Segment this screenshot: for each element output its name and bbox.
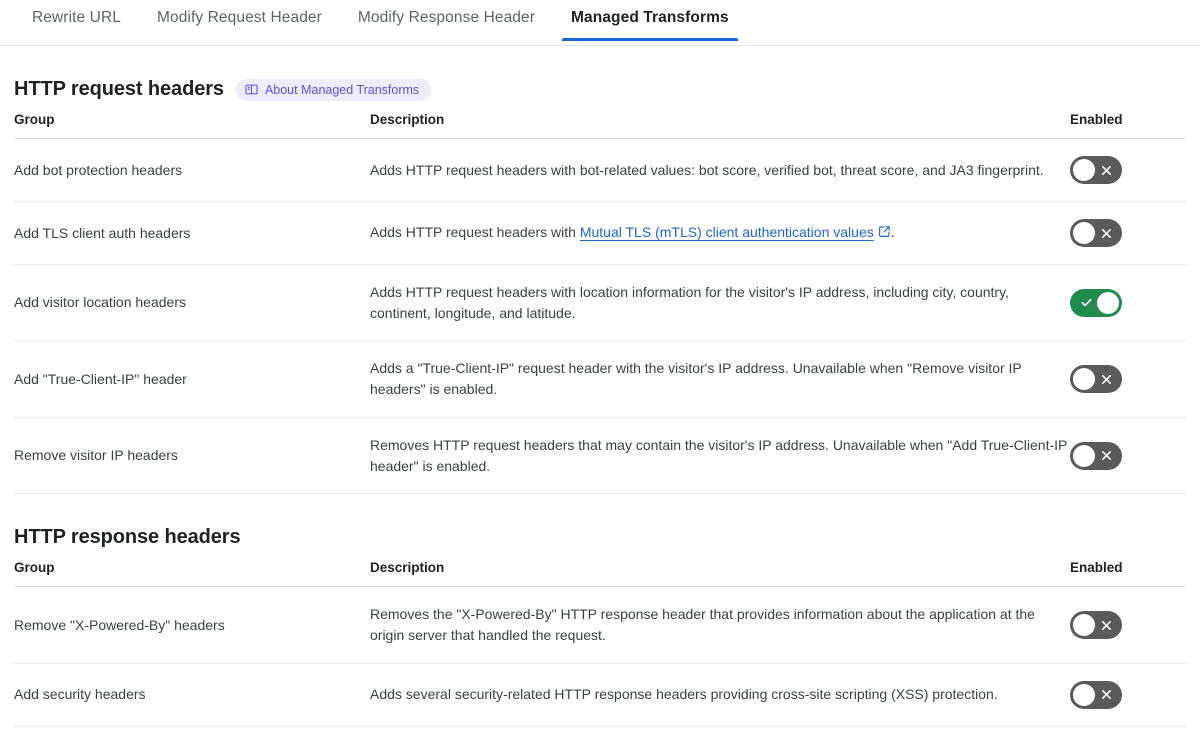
row-description: Removes the "X-Powered-By" HTTP response… [370,587,1070,663]
table-row: Add TLS client auth headers Adds HTTP re… [14,202,1186,265]
row-enabled-cell [1070,417,1186,493]
tab-managed-transforms[interactable]: Managed Transforms [553,0,747,40]
managed-transforms-page: Rewrite URL Modify Request Header Modify… [0,0,1200,742]
row-group-label: Remove visitor IP headers [14,417,370,493]
external-link-icon [878,223,891,244]
description-suffix: . [891,224,895,240]
toggle-add-visitor-location-headers[interactable] [1070,289,1122,317]
row-description: Adds HTTP request headers with location … [370,265,1070,341]
table-row: Add security headers Adds several securi… [14,663,1186,726]
description-prefix: Adds HTTP request headers with [370,224,580,240]
check-icon [1078,289,1094,317]
book-icon [245,83,258,96]
row-description: Adds a "True-Client-IP" request header w… [370,341,1070,417]
section-title-response: HTTP response headers [14,526,241,549]
toggle-knob [1097,292,1119,314]
toggle-remove-visitor-ip-headers[interactable] [1070,442,1122,470]
tab-modify-response-header[interactable]: Modify Response Header [340,0,553,40]
response-headers-table: Group Description Enabled Remove "X-Powe… [14,558,1186,726]
table-row: Remove "X-Powered-By" headers Removes th… [14,587,1186,663]
row-description: Adds HTTP request headers with bot-relat… [370,139,1070,202]
toggle-add-tls-client-auth-headers[interactable] [1070,219,1122,247]
row-description: Removes HTTP request headers that may co… [370,417,1070,493]
about-managed-transforms-label: About Managed Transforms [265,83,419,97]
row-enabled-cell [1070,341,1186,417]
section-title-request: HTTP request headers [14,78,224,101]
toggle-knob [1073,614,1095,636]
row-description: Adds several security-related HTTP respo… [370,663,1070,726]
row-group-label: Remove "X-Powered-By" headers [14,587,370,663]
row-enabled-cell [1070,663,1186,726]
tab-modify-request-header[interactable]: Modify Request Header [139,0,340,40]
close-icon [1098,219,1114,247]
request-headers-table: Group Description Enabled Add bot protec… [14,110,1186,494]
close-icon [1098,442,1114,470]
column-header-group: Group [14,110,370,139]
table-row: Add visitor location headers Adds HTTP r… [14,265,1186,341]
row-description: Adds HTTP request headers with Mutual TL… [370,202,1070,265]
column-header-description: Description [370,558,1070,587]
toggle-knob [1073,445,1095,467]
column-header-enabled: Enabled [1070,558,1186,587]
toggle-knob [1073,222,1095,244]
close-icon [1098,611,1114,639]
row-group-label: Add "True-Client-IP" header [14,341,370,417]
table-header-row: Group Description Enabled [14,558,1186,587]
row-enabled-cell [1070,587,1186,663]
section-http-response-headers: HTTP response headers Group Description … [0,526,1200,726]
column-header-description: Description [370,110,1070,139]
column-header-group: Group [14,558,370,587]
table-row: Add bot protection headers Adds HTTP req… [14,139,1186,202]
about-managed-transforms-badge[interactable]: About Managed Transforms [236,79,431,101]
column-header-enabled: Enabled [1070,110,1186,139]
section-header-request: HTTP request headers About Managed Trans… [14,78,1186,101]
section-header-response: HTTP response headers [14,526,1186,549]
toggle-add-true-client-ip-header[interactable] [1070,365,1122,393]
row-enabled-cell [1070,139,1186,202]
close-icon [1098,156,1114,184]
mtls-doc-link[interactable]: Mutual TLS (mTLS) client authentication … [580,224,874,240]
table-row: Remove visitor IP headers Removes HTTP r… [14,417,1186,493]
table-header-row: Group Description Enabled [14,110,1186,139]
row-group-label: Add bot protection headers [14,139,370,202]
row-enabled-cell [1070,202,1186,265]
toggle-add-security-headers[interactable] [1070,681,1122,709]
row-group-label: Add TLS client auth headers [14,202,370,265]
tab-bar: Rewrite URL Modify Request Header Modify… [0,0,1200,46]
toggle-knob [1073,684,1095,706]
close-icon [1098,681,1114,709]
table-row: Add "True-Client-IP" header Adds a "True… [14,341,1186,417]
row-enabled-cell [1070,265,1186,341]
toggle-knob [1073,368,1095,390]
tab-rewrite-url[interactable]: Rewrite URL [14,0,139,40]
row-group-label: Add visitor location headers [14,265,370,341]
toggle-knob [1073,159,1095,181]
row-group-label: Add security headers [14,663,370,726]
toggle-add-bot-protection-headers[interactable] [1070,156,1122,184]
section-http-request-headers: HTTP request headers About Managed Trans… [0,78,1200,494]
toggle-remove-x-powered-by-headers[interactable] [1070,611,1122,639]
close-icon [1098,365,1114,393]
